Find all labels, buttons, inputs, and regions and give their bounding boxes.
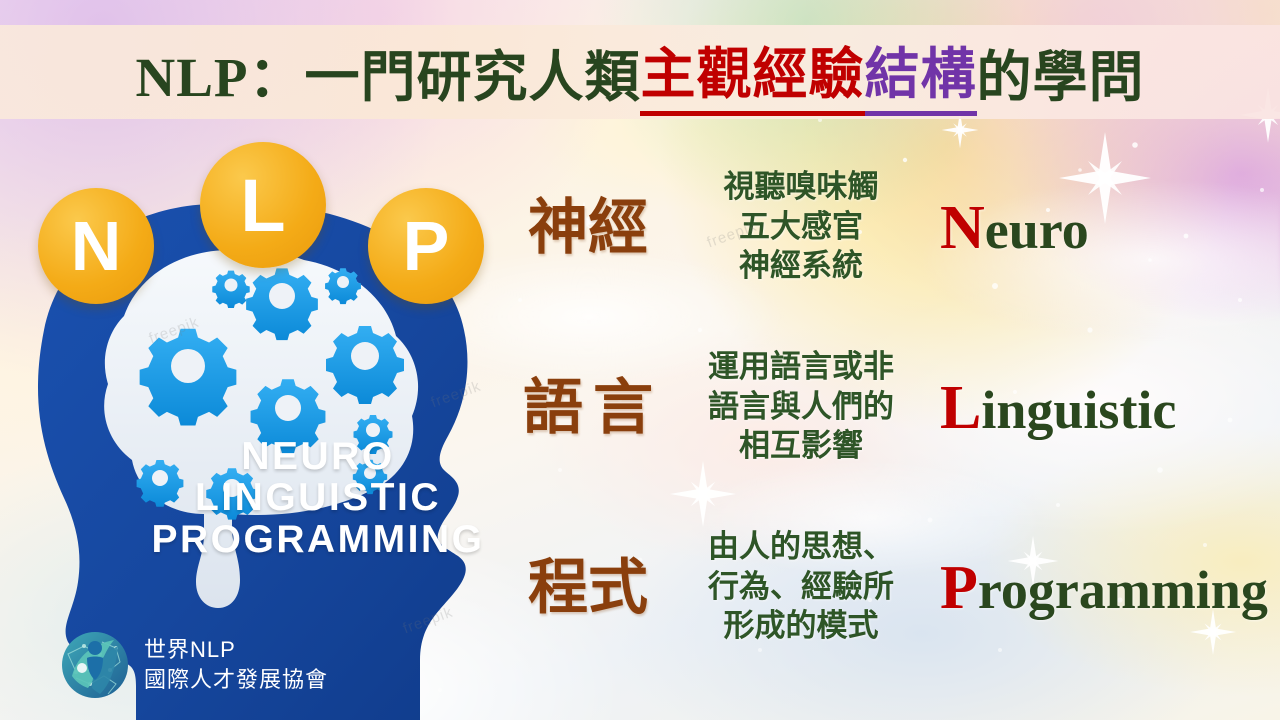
row-programming-desc-line-1: 由人的思想、 <box>676 528 926 568</box>
row-neuro-en-label: Neuro <box>926 197 1270 259</box>
row-neuro-desc-line-1: 視聽嗅味觸 <box>676 168 926 208</box>
row-programming-description: 由人的思想、 行為、經驗所 形成的模式 <box>676 528 926 647</box>
row-programming-desc-line-2: 行為、經驗所 <box>676 568 926 608</box>
row-linguistic-desc-line-3: 相互影響 <box>676 427 926 467</box>
row-neuro-desc-line-3: 神經系統 <box>676 247 926 287</box>
row-neuro-description: 視聽嗅味觸 五大感官 神經系統 <box>676 168 926 287</box>
row-linguistic-desc-line-2: 語言與人們的 <box>676 388 926 428</box>
title-segment-plain-end: 的學問 <box>977 32 1145 112</box>
title-segment-highlight-purple: 結構 <box>865 29 977 116</box>
slide-canvas: NLP：一門研究人類主觀經驗結構的學問 <box>0 0 1280 720</box>
head-wordmark: NEURO LINGUISTIC PROGRAMMING <box>148 436 488 560</box>
row-linguistic-en-rest: inguistic <box>981 380 1176 440</box>
row-neuro-desc-line-2: 五大感官 <box>676 208 926 248</box>
row-programming-en-rest: rogramming <box>978 560 1268 620</box>
gear-medium-right <box>326 326 404 404</box>
title-segment-highlight-red: 主觀經驗 <box>640 29 864 116</box>
gear-small-b <box>325 268 361 304</box>
organization-name: 世界NLP 國際人才發展協會 <box>144 635 328 694</box>
row-linguistic-cn-label: 語言 <box>500 378 676 438</box>
row-programming-cn-label: 程式 <box>500 558 676 618</box>
head-wordmark-line-1: NEURO <box>148 436 488 477</box>
organization-logo: 世界NLP 國際人才發展協會 <box>58 628 328 702</box>
row-programming-en-capital: P <box>940 554 978 622</box>
content-row-neuro: 神經 視聽嗅味觸 五大感官 神經系統 Neuro <box>500 168 1270 287</box>
row-neuro-en-capital: N <box>940 194 985 262</box>
row-neuro-en-rest: euro <box>985 200 1089 260</box>
nlp-bubble-l: L <box>200 142 326 268</box>
page-title: NLP：一門研究人類主觀經驗結構的學問 <box>0 25 1280 119</box>
content-row-programming: 程式 由人的思想、 行為、經驗所 形成的模式 Programming <box>500 528 1270 647</box>
organization-name-line-1: 世界NLP <box>144 635 328 665</box>
row-linguistic-description: 運用語言或非 語言與人們的 相互影響 <box>676 348 926 467</box>
row-linguistic-en-capital: L <box>940 374 981 442</box>
organization-name-line-2: 國際人才發展協會 <box>144 665 328 695</box>
nlp-bubble-p: P <box>368 188 484 304</box>
nlp-bubble-n-letter: N <box>71 206 122 286</box>
gear-medium-top <box>246 268 318 340</box>
nlp-bubble-n: N <box>38 188 154 304</box>
head-wordmark-line-2: LINGUISTIC <box>148 477 488 518</box>
row-linguistic-en-label: Linguistic <box>926 377 1270 439</box>
title-segment-plain-start: NLP：一門研究人類 <box>135 32 640 112</box>
nlp-bubble-l-letter: L <box>240 163 285 248</box>
row-neuro-cn-label: 神經 <box>500 198 676 258</box>
gear-large-left <box>140 329 237 426</box>
row-programming-en-label: Programming <box>926 557 1270 619</box>
row-linguistic-desc-line-1: 運用語言或非 <box>676 348 926 388</box>
globe-people-icon <box>58 628 132 702</box>
content-row-linguistic: 語言 運用語言或非 語言與人們的 相互影響 Linguistic <box>500 348 1270 467</box>
row-programming-desc-line-3: 形成的模式 <box>676 607 926 647</box>
head-wordmark-line-3: PROGRAMMING <box>148 519 488 560</box>
gear-small-a <box>212 271 249 308</box>
nlp-bubble-p-letter: P <box>403 206 450 286</box>
